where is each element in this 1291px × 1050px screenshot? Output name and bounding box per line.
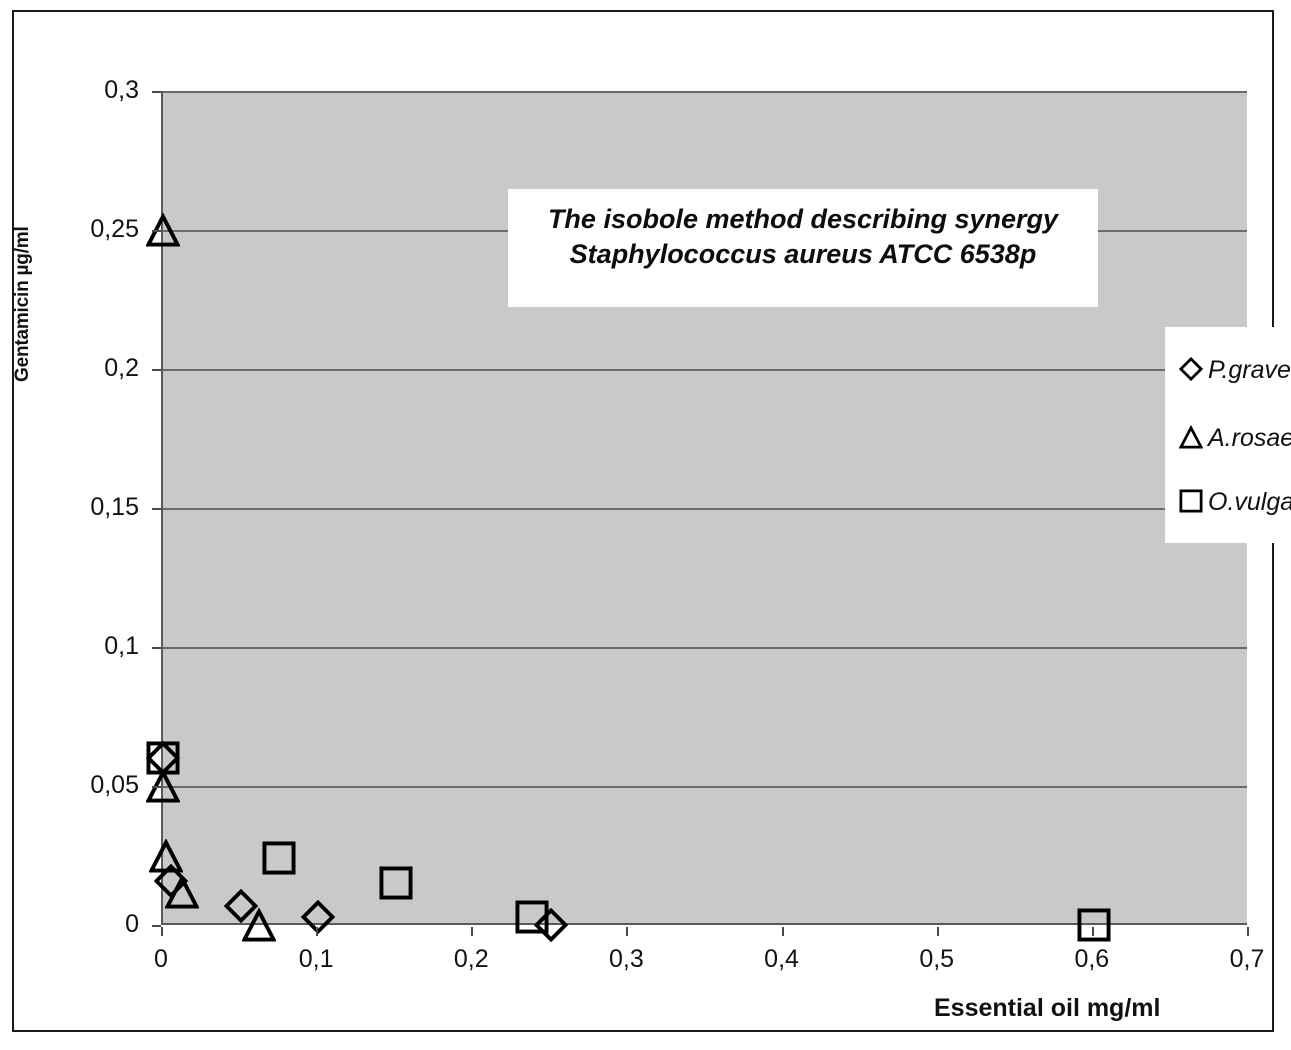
data-point-diamond	[154, 864, 188, 898]
chart-title-box: The isobole method describing synergy St…	[508, 189, 1098, 307]
x-axis-tick	[471, 927, 473, 936]
data-point-triangle	[149, 839, 183, 873]
x-axis-tick-label: 0,1	[256, 947, 376, 972]
legend-marker-triangle-icon	[1179, 425, 1205, 451]
x-axis-tick	[161, 927, 163, 936]
y-axis-tick	[152, 91, 161, 93]
gridline-horizontal	[163, 786, 1247, 788]
gridline-horizontal	[163, 369, 1247, 371]
x-axis-tick-label: 0,5	[877, 947, 997, 972]
data-point-square	[262, 841, 296, 875]
data-point-square	[1077, 908, 1111, 942]
y-axis-tick-label: 0,2	[104, 356, 139, 381]
x-axis-title: Essential oil mg/ml	[934, 994, 1160, 1023]
y-axis-tick-label: 0,3	[104, 78, 139, 103]
x-axis-tick	[626, 927, 628, 936]
x-axis-tick	[316, 927, 318, 936]
chart-title-line-2: Staphylococcus aureus ATCC 6538p	[508, 237, 1098, 272]
y-axis-tick	[152, 925, 161, 927]
chart-title-line-1: The isobole method describing synergy	[508, 202, 1098, 237]
legend-item-a-rosaeodora: A.rosaeodora	[1179, 425, 1291, 451]
x-axis-tick-label: 0,4	[722, 947, 842, 972]
data-point-triangle	[165, 875, 199, 909]
data-point-diamond	[534, 908, 568, 942]
legend-label: P.graveolens	[1208, 358, 1291, 383]
x-axis-tick-label: 0,6	[1032, 947, 1152, 972]
x-axis-tick	[1092, 927, 1094, 936]
legend-item-p-graveolens: P.graveolens	[1179, 357, 1291, 383]
chart-page: Gentamicin µg/ml Essential oil mg/ml The…	[0, 0, 1291, 1050]
y-axis-tick	[152, 786, 161, 788]
data-point-diamond	[146, 741, 180, 775]
data-point-diamond	[301, 900, 335, 934]
x-axis-tick	[1247, 927, 1249, 936]
y-axis-tick-label: 0,25	[90, 217, 139, 242]
y-axis-tick	[152, 647, 161, 649]
legend-marker-diamond-icon	[1179, 357, 1205, 383]
x-axis-tick-label: 0,3	[566, 947, 686, 972]
x-axis-tick	[782, 927, 784, 936]
y-axis-tick-label: 0,05	[90, 773, 139, 798]
y-axis-tick	[152, 369, 161, 371]
y-axis-tick	[152, 230, 161, 232]
y-axis-tick	[152, 508, 161, 510]
y-axis-tick-label: 0	[125, 912, 139, 937]
legend-marker-square-icon	[1179, 489, 1205, 515]
gridline-horizontal	[163, 647, 1247, 649]
x-axis-tick-label: 0,2	[411, 947, 531, 972]
data-point-square	[379, 866, 413, 900]
y-axis-tick-label: 0,1	[104, 634, 139, 659]
legend-item-o-vulgare: O.vulgare	[1179, 489, 1291, 515]
data-point-square	[146, 741, 180, 775]
x-axis-tick	[937, 927, 939, 936]
legend: P.graveolensA.rosaeodoraO.vulgare	[1165, 327, 1291, 543]
y-axis-tick-label: 0,15	[90, 495, 139, 520]
legend-label: O.vulgare	[1208, 490, 1291, 515]
x-axis-tick-label: 0	[101, 947, 221, 972]
chart-frame: Gentamicin µg/ml Essential oil mg/ml The…	[12, 10, 1274, 1032]
legend-label: A.rosaeodora	[1208, 426, 1291, 451]
data-point-diamond	[224, 889, 258, 923]
y-axis-title: Gentamicin µg/ml	[12, 226, 34, 382]
gridline-horizontal	[163, 508, 1247, 510]
plot-area: The isobole method describing synergy St…	[161, 91, 1247, 925]
data-point-triangle	[242, 908, 276, 942]
x-axis-tick-label: 0,7	[1187, 947, 1291, 972]
data-point-square	[515, 900, 549, 934]
gridline-horizontal	[163, 91, 1247, 93]
